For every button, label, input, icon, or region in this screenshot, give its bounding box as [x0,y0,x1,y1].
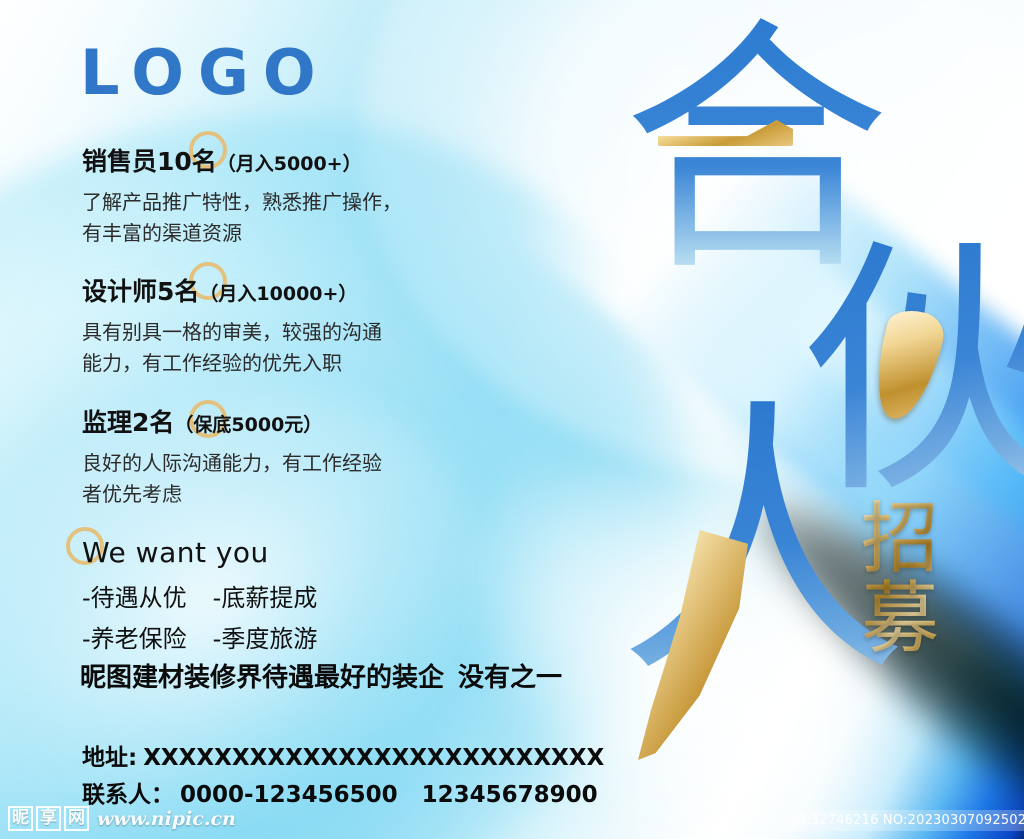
contact-phone-1: 0000-123456500 [180,782,398,808]
perk-item: -养老保险 [82,625,187,653]
job-description-line: 者优先考虑 [82,479,552,510]
slogan-part-1: 昵图建材装修界待遇最好的装企 [80,663,444,693]
job-description-line: 具有别具一格的审美，较强的沟通 [82,317,552,348]
job-title: 设计师5名 [82,277,199,306]
perk-row: -养老保险-季度旅游 [82,619,562,660]
job-description: 良好的人际沟通能力，有工作经验 者优先考虑 [82,448,552,510]
job-description-line: 了解产品推广特性，熟悉推广操作， [82,187,552,218]
job-description-line: 良好的人际沟通能力，有工作经验 [82,448,552,479]
address-value: XXXXXXXXXXXXXXXXXXXXXXXXXX [143,745,604,771]
job-description-line: 能力，有工作经验的优先入职 [82,348,552,379]
perk-item: -待遇从优 [82,584,187,612]
contact-block: 地址:XXXXXXXXXXXXXXXXXXXXXXXXXX 联系人：0000-1… [82,740,642,815]
job-title: 销售员10名 [82,147,217,176]
contact-phone-2: 12345678900 [422,782,598,808]
job-pay: （保底5000元） [174,414,322,436]
job-title-row: 销售员10名（月入5000+） [82,148,552,177]
job-listing: 销售员10名（月入5000+） 了解产品推广特性，熟悉推广操作， 有丰富的渠道资… [82,148,552,249]
perk-item: -底薪提成 [213,584,318,612]
job-pay: （月入10000+） [199,283,357,305]
slogan-part-2: 没有之一 [458,663,562,693]
slogan: 昵图建材装修界待遇最好的装企没有之一 [80,657,562,694]
job-title: 监理2名 [82,408,174,437]
address-row: 地址:XXXXXXXXXXXXXXXXXXXXXXXXXX [82,740,642,777]
image-id-bar: ID:32746216 NO:20230307092502156100 [782,810,1024,831]
contact-person-label: 联系人： [82,782,174,808]
job-pay: （月入5000+） [217,153,362,175]
we-want-you-heading: We want you [82,536,269,569]
address-label: 地址: [82,745,137,771]
job-title-row: 设计师5名（月入10000+） [82,278,552,307]
job-listing: 设计师5名（月入10000+） 具有别具一格的审美，较强的沟通 能力，有工作经验… [82,278,552,379]
logo-text: LOGO [80,36,330,109]
job-description-line: 有丰富的渠道资源 [82,218,552,249]
content-column: LOGO 销售员10名（月入5000+） 了解产品推广特性，熟悉推广操作， 有丰… [0,0,640,839]
job-listing: 监理2名（保底5000元） 良好的人际沟通能力，有工作经验 者优先考虑 [82,409,552,510]
job-description: 具有别具一格的审美，较强的沟通 能力，有工作经验的优先入职 [82,317,552,379]
recruitment-poster: 合 伙 人 招 募 LOGO 销售员10名（月入5000+） 了解产品推广特性，… [0,0,1024,839]
job-title-row: 监理2名（保底5000元） [82,409,552,438]
perk-row: -待遇从优-底薪提成 [82,578,562,619]
job-description: 了解产品推广特性，熟悉推广操作， 有丰富的渠道资源 [82,187,552,249]
perk-item: -季度旅游 [213,625,318,653]
contact-person-row: 联系人：0000-12345650012345678900 [82,777,642,814]
perks-list: -待遇从优-底薪提成 -养老保险-季度旅游 [82,578,562,661]
